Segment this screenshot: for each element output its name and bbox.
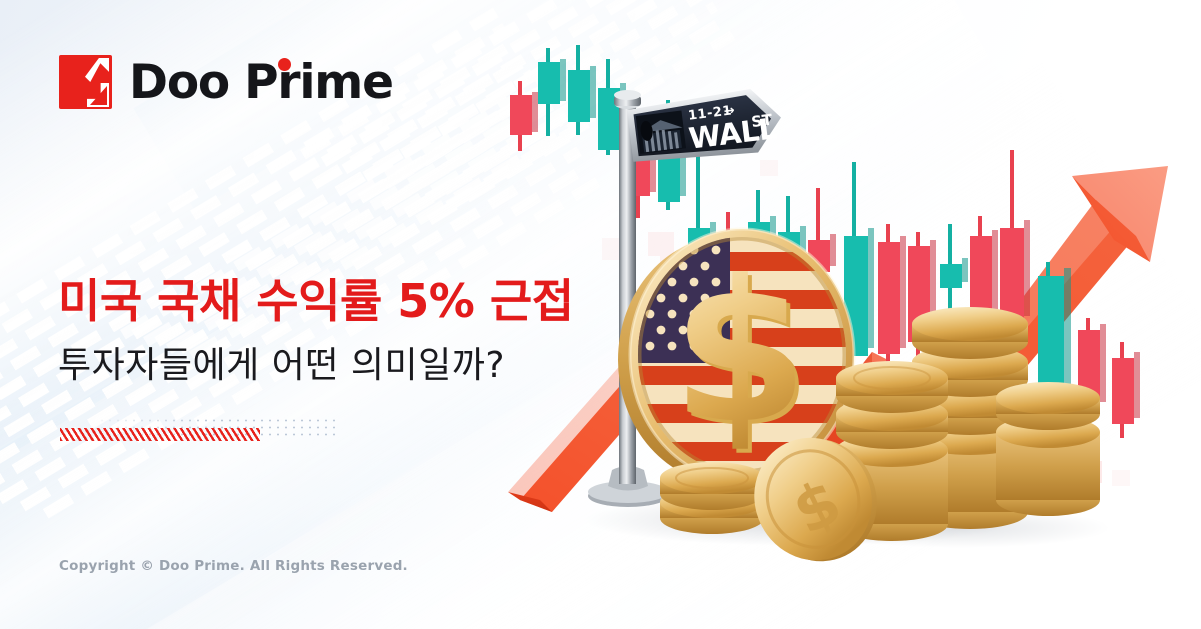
red-hatch-bar <box>60 428 260 441</box>
decorative-divider <box>60 417 340 445</box>
candle-bull <box>538 48 566 136</box>
logo-wordmark-text: Doo Prime <box>129 55 393 110</box>
logo-wordmark: Doo Prime <box>129 59 393 106</box>
logo-dot-icon <box>278 58 291 71</box>
candle-bear <box>1112 342 1140 438</box>
candle-bear <box>878 224 906 374</box>
dollar-sign-emblem: $ $ <box>672 239 812 471</box>
doo-prime-nib-mark-icon <box>59 55 112 109</box>
svg-text:$: $ <box>672 239 808 467</box>
gold-coin-stack-small-left <box>660 462 764 534</box>
hero-artwork: 11-21 → WALL ST <box>500 0 1201 629</box>
candle-bear <box>510 81 538 151</box>
doo-prime-promo-banner: Doo Prime 미국 국채 수익률 5% 근접 투자자들에게 어떤 의미일까… <box>0 0 1201 629</box>
doo-prime-logo[interactable]: Doo Prime <box>59 55 393 109</box>
svg-text:ST: ST <box>750 111 774 132</box>
candle-bull <box>568 45 596 135</box>
candle-bear <box>1000 150 1030 324</box>
copyright-text: Copyright © Doo Prime. All Rights Reserv… <box>59 558 408 574</box>
